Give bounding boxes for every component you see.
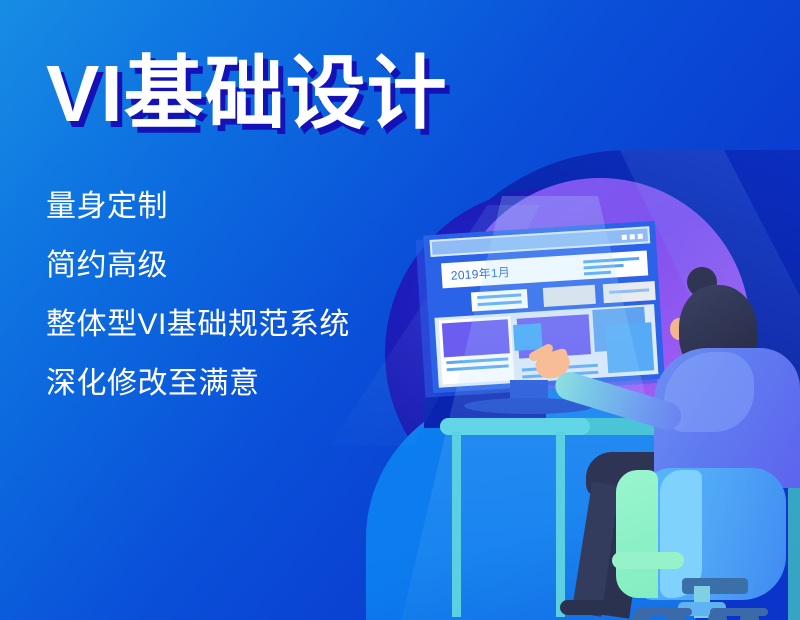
url-bar-date-text: 2019年1月 (450, 263, 510, 284)
person-foot (560, 600, 622, 615)
content-card-right-front (605, 322, 654, 373)
feature-item-2: 简约高级 (46, 251, 446, 281)
chair-armrest (616, 470, 658, 598)
page-title: VI基础设计 (46, 50, 448, 138)
desk-top-highlight (440, 418, 590, 435)
feature-item-3: 整体型VI基础规范系统 (46, 310, 446, 340)
toolbar-chip-1 (471, 289, 528, 311)
content-card-left (439, 316, 515, 384)
toolbar-chip-3 (603, 281, 656, 303)
desk-leg-right (556, 432, 565, 617)
chair-seat-shadow (682, 578, 748, 594)
window-controls-dots-icon (622, 234, 643, 240)
content-card-middle-accent (513, 323, 543, 351)
vi-design-banner: 2019年1月 (0, 0, 800, 620)
chair-armrest-pad (612, 552, 684, 569)
url-bar-placeholder-lines (583, 257, 640, 278)
toolbar-chip-2 (543, 285, 596, 307)
feature-item-1: 量身定制 (46, 192, 446, 222)
desk-leg-left (452, 432, 461, 617)
feature-list: 量身定制 简约高级 整体型VI基础规范系统 深化修改至满意 (46, 192, 446, 399)
feature-item-4: 深化修改至满意 (46, 369, 446, 399)
